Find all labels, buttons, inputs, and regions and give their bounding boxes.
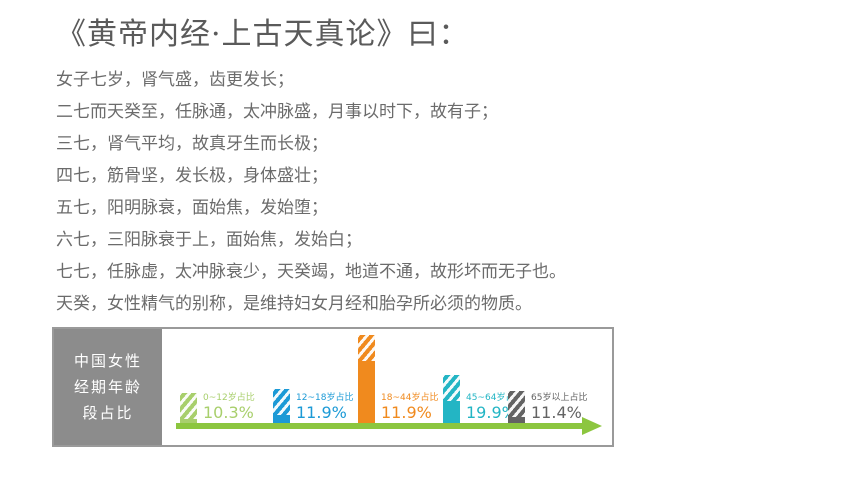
bar-1[interactable] [273, 389, 290, 423]
quote-line-5: 五七，阳明脉衰，面始焦，发始堕； [56, 192, 816, 224]
bar-3[interactable] [443, 375, 460, 423]
bar-label-0: 0~12岁占比 10.3% [203, 393, 255, 423]
quote-line-2: 二七而天癸至，任脉通，太冲脉盛，月事以时下，故有子； [56, 96, 816, 128]
quote-block: 女子七岁，肾气盛，齿更发长； 二七而天癸至，任脉通，太冲脉盛，月事以时下，故有子… [56, 64, 816, 320]
bar-4[interactable] [508, 391, 525, 423]
bar-value-1: 11.9% [296, 404, 353, 422]
chart-baseline [176, 423, 582, 429]
quote-line-7: 七七，任脉虚，太冲脉衰少，天癸竭，地道不通，故形坏而无子也。 [56, 256, 816, 288]
chart-panel: 中国女性 经期年龄 段占比 0~12岁占比 10.3% 12~18岁占比 11.… [52, 327, 614, 447]
chart-caption-line-1: 中国女性 [74, 348, 142, 374]
quote-line-6: 六七，三阳脉衰于上，面始焦，发始白； [56, 224, 816, 256]
bar-hatch-4 [508, 391, 525, 417]
bar-hatch-0 [180, 393, 197, 419]
quote-line-8: 天癸，女性精气的别称，是维持妇女月经和胎孕所必须的物质。 [56, 288, 816, 320]
page-title: 《黄帝内经·上古天真论》曰： [56, 14, 470, 56]
bar-hatch-3 [443, 375, 460, 401]
bar-group-0[interactable]: 0~12岁占比 10.3% [180, 393, 255, 423]
bar-hatch-2 [358, 335, 375, 361]
chart-caption-line-3: 段占比 [82, 400, 133, 426]
quote-line-3: 三七，肾气平均，故真牙生而长极； [56, 128, 816, 160]
bar-group-1[interactable]: 12~18岁占比 11.9% [273, 389, 353, 423]
bar-hatch-1 [273, 389, 290, 415]
chart-caption-line-2: 经期年龄 [74, 374, 142, 400]
quote-line-4: 四七，筋骨坚，发长极，身体盛壮； [56, 160, 816, 192]
chart-plot-area: 0~12岁占比 10.3% 12~18岁占比 11.9% 18~44岁占比 11… [162, 329, 612, 445]
bar-value-0: 10.3% [203, 404, 255, 422]
bar-value-2: 11.9% [381, 404, 438, 422]
bar-group-4[interactable]: 65岁以上占比 11.4% [508, 391, 587, 423]
bar-value-4: 11.4% [531, 404, 587, 422]
bar-label-4: 65岁以上占比 11.4% [531, 393, 587, 423]
bar-0[interactable] [180, 393, 197, 423]
bar-2[interactable] [358, 335, 375, 423]
bar-label-2: 18~44岁占比 11.9% [381, 393, 438, 423]
bar-label-1: 12~18岁占比 11.9% [296, 393, 353, 423]
quote-line-1: 女子七岁，肾气盛，齿更发长； [56, 64, 816, 96]
chart-caption: 中国女性 经期年龄 段占比 [54, 329, 162, 445]
bar-group-2[interactable]: 18~44岁占比 11.9% [358, 335, 438, 423]
